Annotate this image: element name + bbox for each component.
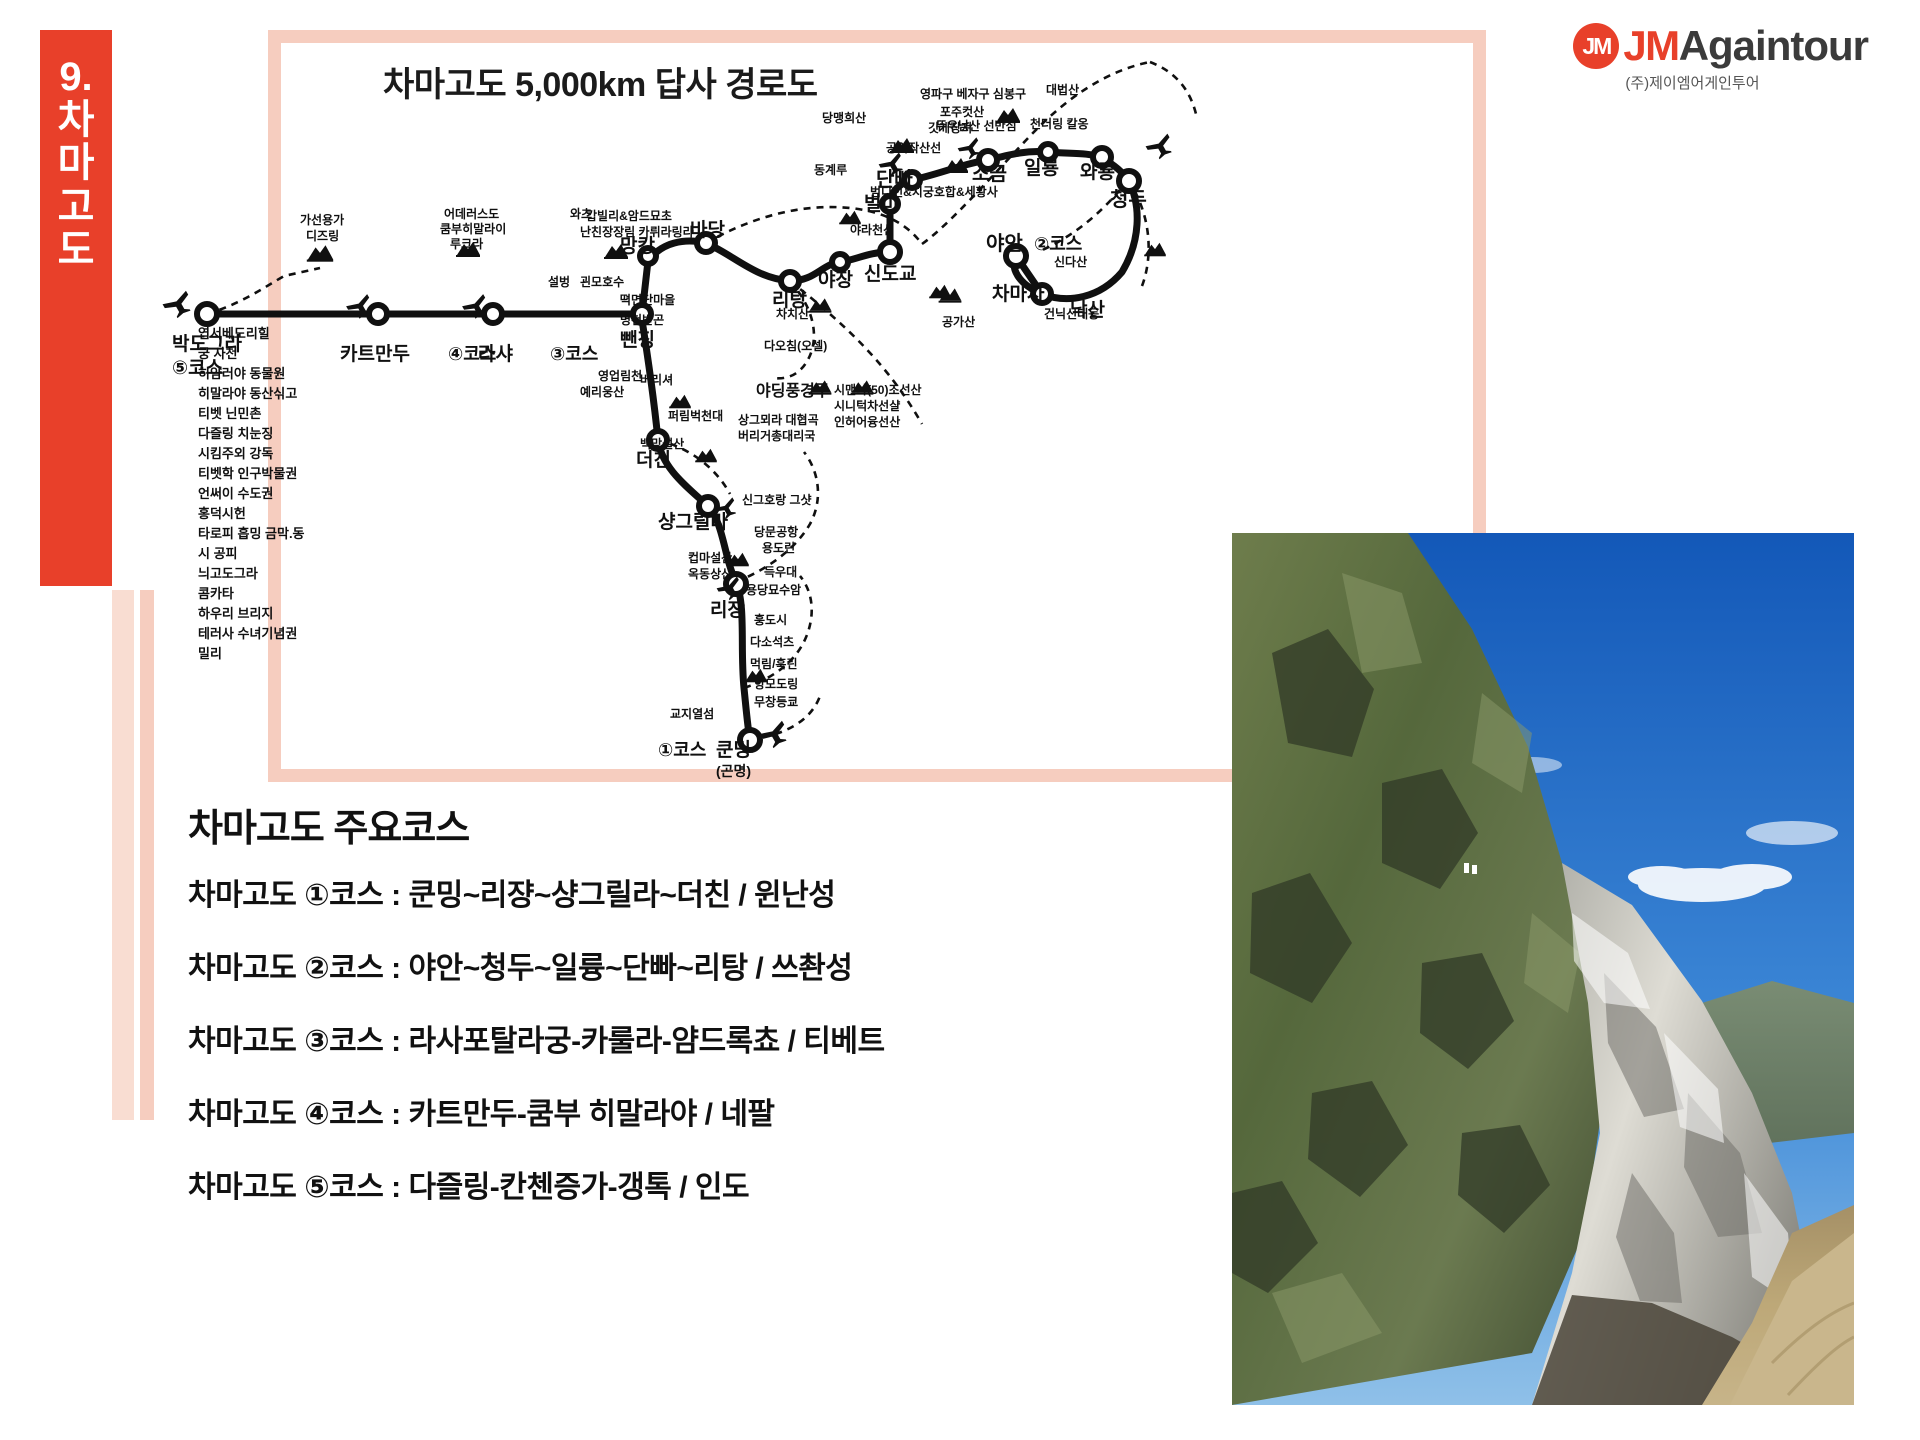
map-node-label: 일룡 — [1024, 157, 1059, 179]
map-node-label: 소금 — [972, 164, 1007, 185]
svg-text:버리셔: 버리셔 — [640, 372, 673, 387]
svg-text:득우대: 득우대 — [764, 565, 797, 579]
course-item: 차마고도 ②코스 : 야안~청두~일륭~단빠~리탕 / 쓰촨성 — [188, 943, 1068, 987]
section-title-char-1: 마 — [40, 142, 112, 185]
course-item: 차마고도 ①코스 : 쿤밍~리쟝~샹그릴라~더친 / 윈난성 — [188, 870, 1068, 914]
svg-text:차치산: 차치산 — [776, 306, 809, 321]
svg-text:당문공항: 당문공항 — [754, 524, 798, 539]
courses-heading: 차마고도 주요코스 — [188, 797, 469, 852]
course-item: 차마고도 ③코스 : 라사포탈라궁-카룰라-얌드록쵸 / 티베트 — [188, 1016, 1068, 1060]
map-node-label: 신도교 — [864, 263, 916, 285]
svg-text:궁 사천: 궁 사천 — [198, 346, 238, 361]
svg-text:먹림/훅린: 먹림/훅린 — [750, 656, 798, 671]
map-node-label: 샹그릴라 — [658, 511, 728, 533]
accent-bar-outer — [112, 590, 134, 1120]
svg-text:천더링 칼옹: 천더링 칼옹 — [1030, 116, 1089, 131]
svg-text:다즐링 치눈징: 다즐링 치눈징 — [198, 426, 273, 441]
map-node-label: 와룡 — [1080, 161, 1115, 183]
section-title-char-3: 도 — [40, 229, 112, 272]
svg-text:포주컷산: 포주컷산 — [940, 104, 984, 119]
svg-text:언써이 수도권: 언써이 수도권 — [198, 486, 273, 501]
brand-logo: JM JM Againtour (주)제이엠어게인투어 — [1573, 22, 1868, 93]
section-tab-label: 9. 차 마 고 도 — [40, 56, 112, 272]
course-item: 차마고도 ④코스 : 카트만두-쿰부 히말라야 / 네팔 — [188, 1089, 1068, 1133]
svg-text:교지열섬: 교지열섬 — [670, 706, 714, 721]
svg-text:용당묘수암: 용당묘수암 — [746, 582, 801, 597]
svg-text:테러사 수녀기념권: 테러사 수녀기념권 — [198, 626, 297, 641]
svg-text:버리거총대리국: 버리거총대리국 — [738, 428, 815, 443]
svg-text:예리웅산: 예리웅산 — [580, 384, 624, 399]
map-node-label: 리장 — [710, 599, 745, 621]
svg-text:건닉신대동: 건닉신대동 — [1044, 306, 1099, 321]
map-node-label: 차마사 — [992, 283, 1045, 305]
gorge-photo — [1232, 533, 1854, 1405]
map-node-label: 뺀징 — [620, 329, 655, 351]
svg-text:디즈링: 디즈링 — [306, 228, 339, 243]
svg-text:루크라: 루크라 — [450, 236, 483, 251]
route-map: 박도그라 ⑤코스 카트만두 ④코스 라샤 ③코스 뺀징 망캉 바당 리탕 야장 … — [150, 28, 1310, 788]
svg-text:상그뫼라 대협곡: 상그뫼라 대협곡 — [738, 412, 819, 427]
logo-name-secondary: Againtour — [1679, 22, 1868, 70]
section-number: 9. — [40, 56, 112, 99]
svg-text:엽서베도리힐: 엽서베도리힐 — [198, 326, 270, 341]
svg-text:옥동상산: 옥동상산 — [688, 566, 732, 581]
section-tab: 9. 차 마 고 도 — [40, 30, 112, 586]
section-title-char-2: 고 — [40, 186, 112, 229]
map-node-sublabel: (곤명) — [716, 763, 751, 779]
svg-text:캅빌리&암드묘초: 캅빌리&암드묘초 — [586, 208, 672, 223]
svg-text:야딩풍경구: 야딩풍경구 — [756, 382, 830, 400]
svg-text:공억작산선: 공억작산선 — [886, 140, 941, 155]
map-node-label: 야장 — [818, 269, 853, 291]
svg-text:백망설산: 백망설산 — [640, 436, 684, 451]
svg-text:영업림천: 영업림천 — [598, 368, 642, 383]
svg-text:하우리 브리지: 하우리 브리지 — [198, 606, 273, 621]
logo-subtitle: (주)제이엠어게인투어 — [1625, 72, 1759, 93]
svg-text:티벳 닌민촌: 티벳 닌민촌 — [198, 406, 261, 421]
svg-text:늬고도그라: 늬고도그라 — [198, 566, 258, 581]
svg-text:괸모호수: 괸모호수 — [580, 275, 624, 289]
svg-text:명천반곤: 명천반곤 — [620, 312, 664, 327]
svg-text:신그호랑 그샷: 신그호랑 그샷 — [742, 492, 812, 507]
logo-name-primary: JM — [1623, 22, 1678, 70]
map-node-label: 쿤밍 — [716, 739, 751, 761]
map-node-label: 청두 — [1110, 188, 1147, 211]
svg-text:다오침(오셀): 다오침(오셀) — [764, 338, 827, 353]
svg-text:시킴주외 강독: 시킴주외 강독 — [198, 446, 273, 461]
course-item: 차마고도 ⑤코스 : 다즐링-칸첸증가-갱톡 / 인도 — [188, 1162, 1068, 1206]
map-node-course: ①코스 — [658, 740, 706, 760]
svg-text:항모도링: 항모도링 — [754, 676, 798, 691]
map-node-course: ②코스 — [1034, 234, 1082, 254]
map-node-label: 야안 — [986, 232, 1023, 255]
map-node-label: 라샤 — [478, 343, 513, 365]
svg-text:밀리: 밀리 — [198, 646, 222, 661]
svg-text:와츠: 와츠 — [570, 206, 592, 221]
svg-text:깃게장져: 깃게장져 — [928, 120, 972, 135]
svg-text:동계루: 동계루 — [814, 162, 847, 177]
svg-text:히얌러야 동물원: 히얌러야 동물원 — [198, 366, 285, 381]
map-node-label: 카트만두 — [340, 343, 410, 365]
svg-text:신다산: 신다산 — [1054, 254, 1087, 269]
svg-text:시니턱차선샬: 시니턱차선샬 — [834, 398, 900, 413]
svg-text:퍼림벅천대: 퍼림벅천대 — [668, 408, 723, 423]
svg-text:인허어융선산: 인허어융선산 — [834, 414, 900, 429]
map-node-course: ③코스 — [550, 344, 598, 364]
svg-text:타로피 흡밍 금막.동: 타로피 흡밍 금막.동 — [198, 526, 305, 541]
svg-text:홍덕시헌: 홍덕시헌 — [198, 506, 246, 521]
svg-text:히말라야 동산싞고: 히말라야 동산싞고 — [198, 386, 297, 401]
svg-text:무창등쿄: 무창등쿄 — [754, 694, 798, 709]
svg-text:콤카타: 콤카타 — [198, 586, 234, 601]
svg-text:난친장장림 카뤼라링라: 난친장장림 카뤼라링라 — [580, 224, 694, 239]
logo-mark-icon: JM — [1573, 23, 1619, 69]
map-node-label: 바당 — [690, 219, 725, 241]
svg-text:시 공피: 시 공피 — [198, 546, 238, 561]
svg-text:훙도시: 훙도시 — [754, 612, 787, 627]
svg-text:용도린: 용도린 — [762, 540, 795, 555]
svg-text:범디힌&치궁호합&세황사: 범디힌&치궁호합&세황사 — [870, 184, 998, 199]
svg-text:설벙: 설벙 — [548, 274, 570, 289]
svg-text:뗙면단마을: 뗙면단마을 — [620, 292, 675, 307]
svg-text:다소석츠: 다소석츠 — [750, 634, 794, 649]
svg-text:어데러스도: 어데러스도 — [444, 206, 499, 221]
svg-text:시맨나(50)조선산: 시맨나(50)조선산 — [834, 382, 922, 397]
svg-text:대법산: 대법산 — [1046, 82, 1079, 97]
svg-text:영파구 베자구 심봉구: 영파구 베자구 심봉구 — [920, 86, 1026, 101]
courses-list: 차마고도 ①코스 : 쿤밍~리쟝~샹그릴라~더친 / 윈난성 차마고도 ②코스 … — [188, 870, 1068, 1235]
svg-text:컵마설산: 컵마설산 — [688, 550, 732, 565]
svg-text:가선용가: 가선용가 — [300, 212, 344, 227]
map-city-list: 엽서베도리힐 궁 사천 히얌러야 동물원 히말라야 동산싞고 티벳 닌민촌 다즐… — [198, 326, 305, 661]
svg-text:쿰부히말라이: 쿰부히말라이 — [440, 221, 506, 236]
svg-text:야라천선: 야라천선 — [850, 222, 894, 237]
map-node-label: 더친 — [636, 449, 671, 471]
svg-text:티벳학 인구박물권: 티벳학 인구박물권 — [198, 466, 297, 481]
section-title-char-0: 차 — [40, 99, 112, 142]
svg-text:공가산: 공가산 — [942, 314, 975, 329]
svg-text:당맹희산: 당맹희산 — [822, 110, 866, 125]
